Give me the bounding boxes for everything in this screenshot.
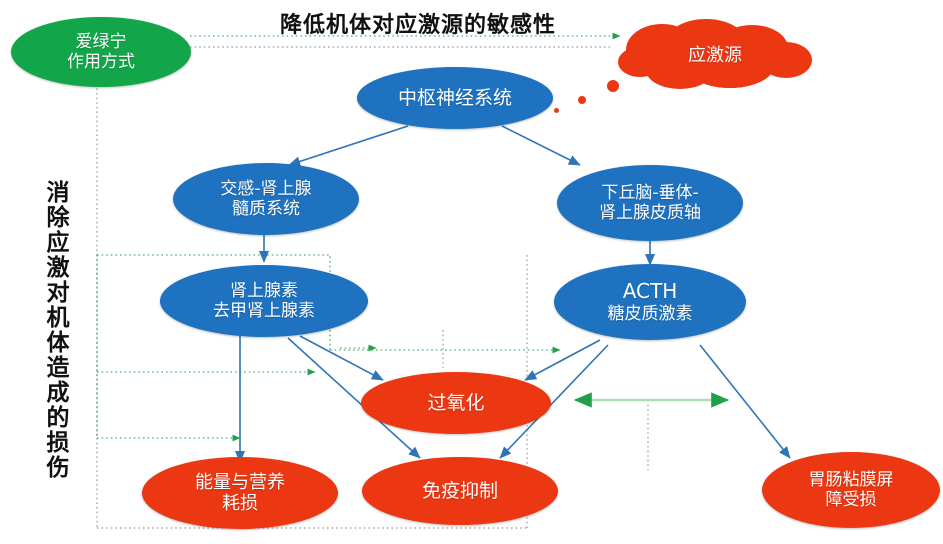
node-energy-loss-line2: 耗损 (189, 493, 291, 514)
node-hpa-line1: 下丘脑-垂体- (593, 183, 707, 203)
node-gi-barrier-line2: 障受损 (803, 490, 900, 510)
bubble-small-1 (554, 108, 559, 113)
node-sam-line1: 交感-肾上腺 (214, 179, 317, 199)
node-catecholamine-line2: 去甲肾上腺素 (207, 301, 321, 321)
node-cns-label: 中枢神经系统 (357, 87, 553, 109)
node-sam[interactable]: 交感-肾上腺 髓质系统 (173, 163, 359, 235)
node-gi-barrier[interactable]: 胃肠粘膜屏 障受损 (762, 452, 940, 528)
node-hpa[interactable]: 下丘脑-垂体- 肾上腺皮质轴 (557, 165, 743, 241)
node-sam-line2: 髓质系统 (214, 199, 317, 219)
node-energy-loss-line1: 能量与营养 (189, 472, 291, 493)
node-cns[interactable]: 中枢神经系统 (357, 67, 553, 129)
bubble-small-2 (578, 96, 586, 104)
node-gi-barrier-line1: 胃肠粘膜屏 (803, 470, 900, 490)
node-catecholamine-line1: 肾上腺素 (207, 281, 321, 301)
node-stressor-label: 应激源 (688, 41, 742, 67)
node-product-line2: 作用方式 (61, 52, 141, 72)
node-peroxidation-label: 过氧化 (361, 392, 551, 414)
node-immunosuppression[interactable]: 免疫抑制 (362, 457, 558, 525)
node-peroxidation[interactable]: 过氧化 (361, 372, 551, 434)
page-title: 降低机体对应激源的敏感性 (228, 7, 608, 39)
side-label: 消除应激对机体造成的损伤 (38, 140, 72, 520)
node-immunosuppression-label: 免疫抑制 (362, 480, 558, 502)
node-product-line1: 爱绿宁 (61, 32, 141, 52)
node-acth-line2: 糖皮质激素 (602, 304, 699, 324)
node-acth-line1: ACTH (602, 280, 699, 304)
node-catecholamine[interactable]: 肾上腺素 去甲肾上腺素 (160, 265, 368, 337)
node-stressor[interactable]: 应激源 (610, 18, 820, 90)
node-hpa-line2: 肾上腺皮质轴 (593, 203, 707, 223)
node-product[interactable]: 爱绿宁 作用方式 (11, 17, 191, 87)
diagram-canvas: 降低机体对应激源的敏感性 消除应激对机体造成的损伤 应激源 爱绿宁 作用方式 (0, 0, 943, 544)
node-acth[interactable]: ACTH 糖皮质激素 (554, 264, 746, 340)
node-energy-loss[interactable]: 能量与营养 耗损 (142, 457, 338, 529)
